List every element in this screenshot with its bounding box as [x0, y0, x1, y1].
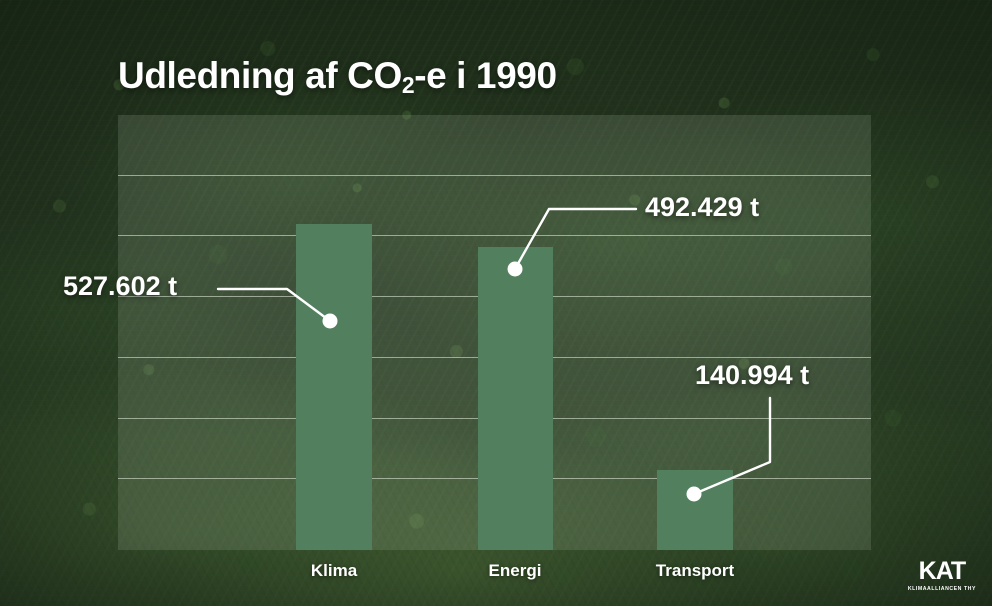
x-axis-label-transport: Transport: [656, 561, 734, 581]
value-callout-klima: 527.602 t: [63, 271, 177, 302]
logo-wordmark: KAT: [908, 559, 976, 584]
organization-logo: KAT KLIMAALLIANCEN THY: [908, 559, 976, 592]
value-callout-energi: 492.429 t: [645, 192, 759, 223]
x-axis-label-energi: Energi: [489, 561, 542, 581]
annotation-leader-lines: [0, 0, 992, 606]
value-callout-transport: 140.994 t: [695, 360, 809, 391]
logo-subtitle: KLIMAALLIANCEN THY: [908, 587, 976, 592]
infographic-slide: Udledning af CO2-e i 1990 527.602 t 492.…: [0, 0, 992, 606]
x-axis-label-klima: Klima: [311, 561, 357, 581]
